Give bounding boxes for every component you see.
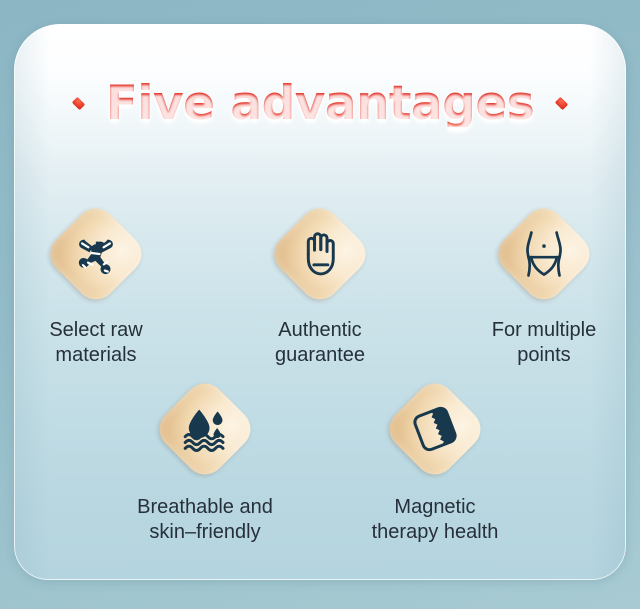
badge-water-droplet[interactable] xyxy=(151,375,259,483)
feature-for-multiple-points[interactable]: For multiple points xyxy=(462,200,626,369)
page-title: Five advantages xyxy=(106,80,534,127)
feature-caption: Magnetic therapy health xyxy=(372,495,499,546)
features-grid: Select raw materials xyxy=(14,200,626,546)
water-droplet-icon xyxy=(169,393,241,465)
ginger-root-icon xyxy=(60,218,132,290)
magnetic-patch-icon xyxy=(399,393,471,465)
feature-row-top: Select raw materials xyxy=(14,200,626,369)
badge-hand-palm[interactable] xyxy=(266,200,374,308)
feature-row-bottom: Breathable and skin–friendly xyxy=(14,375,626,546)
feature-caption: Breathable and skin–friendly xyxy=(137,495,273,546)
diamond-bullet-right-icon xyxy=(555,97,568,110)
feature-caption: Select raw materials xyxy=(49,318,142,369)
waist-belly-icon xyxy=(508,218,580,290)
feature-authentic-guarantee[interactable]: Authentic guarantee xyxy=(238,200,402,369)
feature-select-raw-materials[interactable]: Select raw materials xyxy=(14,200,178,369)
feature-magnetic-therapy-health[interactable]: Magnetic therapy health xyxy=(346,375,524,546)
diamond-bullet-left-icon xyxy=(72,97,85,110)
feature-caption: For multiple points xyxy=(492,318,596,369)
badge-waist-belly[interactable] xyxy=(490,200,598,308)
feature-breathable-skin-friendly[interactable]: Breathable and skin–friendly xyxy=(116,375,294,546)
advantages-poster: Five advantages xyxy=(0,0,640,609)
feature-caption: Authentic guarantee xyxy=(275,318,365,369)
hand-palm-icon xyxy=(284,218,356,290)
title-row: Five advantages xyxy=(14,80,626,127)
advantages-card: Five advantages xyxy=(14,24,626,580)
badge-magnetic-patch[interactable] xyxy=(381,375,489,483)
badge-ginger-root[interactable] xyxy=(42,200,150,308)
